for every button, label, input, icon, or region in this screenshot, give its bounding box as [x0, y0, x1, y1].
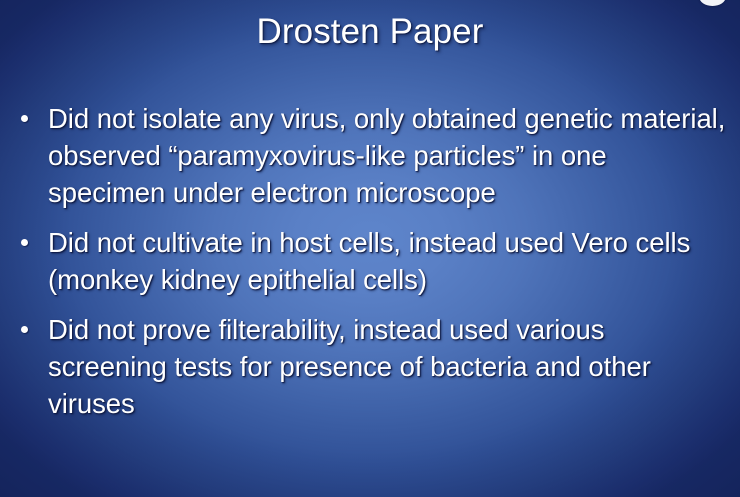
list-item: Did not isolate any virus, only obtained… [0, 100, 740, 211]
list-item-label: Did not prove filterability, instead use… [48, 311, 726, 422]
presentation-slide: Drosten Paper Did not isolate any virus,… [0, 0, 740, 497]
list-item: Did not cultivate in host cells, instead… [0, 224, 740, 298]
list-item: Did not prove filterability, instead use… [0, 311, 740, 422]
bullet-dot-icon [21, 115, 28, 122]
list-item-label: Did not cultivate in host cells, instead… [48, 224, 726, 298]
bullet-list: Did not isolate any virus, only obtained… [0, 100, 740, 435]
bullet-dot-icon [21, 326, 28, 333]
slide-title: Drosten Paper [0, 8, 740, 56]
list-item-label: Did not isolate any virus, only obtained… [48, 100, 726, 211]
bullet-dot-icon [21, 239, 28, 246]
white-dot-shape [699, 0, 726, 6]
